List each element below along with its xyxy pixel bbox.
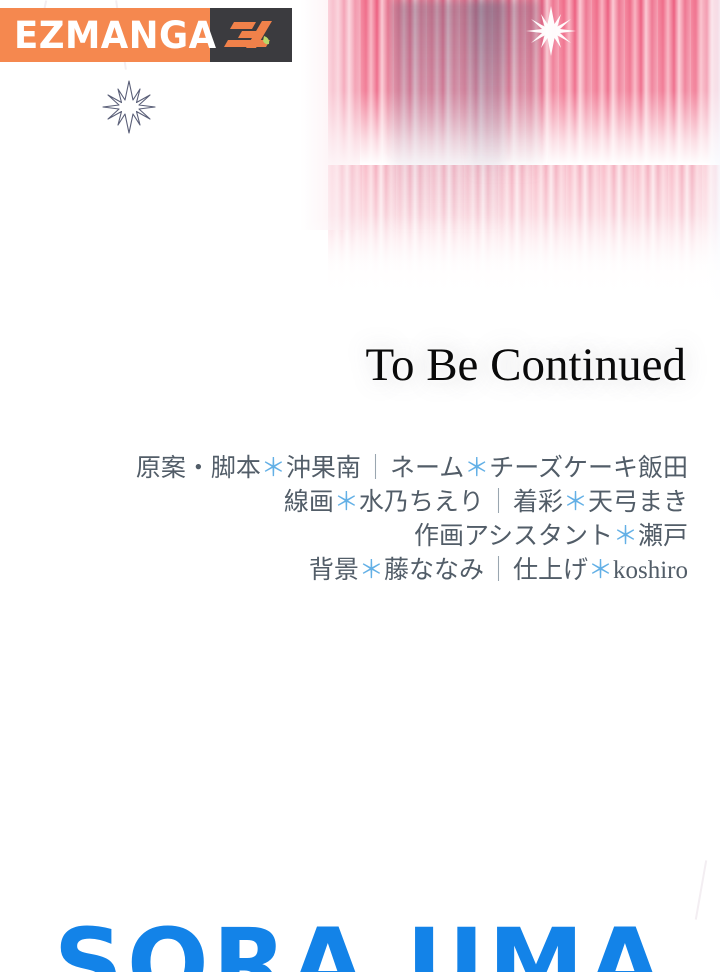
credit-star-icon: ＊ <box>464 455 489 482</box>
credit-name: 水乃ちえり <box>359 489 484 516</box>
sparkle-burst-left-icon <box>100 78 158 136</box>
credit-line: 線画＊水乃ちえり｜着彩＊天弓まき <box>0 486 688 520</box>
ezmanga-wordmark: EZMANGA <box>14 17 217 54</box>
pink-streak-field-deep <box>328 0 720 165</box>
credit-line: 作画アシスタント＊瀬戸 <box>0 520 688 554</box>
credit-star-icon: ＊ <box>588 557 613 584</box>
ezmanga-glyph-icon <box>222 18 280 52</box>
credit-separator: ｜ <box>484 489 513 516</box>
credit-line: 原案・脚本＊沖果南｜ネーム＊チーズケーキ飯田 <box>0 452 688 486</box>
credit-name: koshiro <box>613 557 688 584</box>
credit-role: 線画 <box>284 489 334 516</box>
ezmanga-dark-plate <box>210 8 292 62</box>
staff-credits: 原案・脚本＊沖果南｜ネーム＊チーズケーキ飯田線画＊水乃ちえり｜着彩＊天弓まき作画… <box>0 452 688 588</box>
credit-star-icon: ＊ <box>359 557 384 584</box>
credit-star-icon: ＊ <box>613 523 638 550</box>
to-be-continued-headline: To Be Continued <box>0 340 686 392</box>
bottom-fade <box>300 215 720 325</box>
ezmanga-orange-plate: EZMANGA <box>0 8 210 62</box>
manga-page: EZMANGA To Be Continued 原案・脚本＊沖果南｜ネーム＊チー… <box>0 0 720 972</box>
credit-role: 着彩 <box>513 489 563 516</box>
faint-line-c <box>695 860 707 919</box>
credit-name: 藤ななみ <box>384 557 484 584</box>
credit-star-icon: ＊ <box>334 489 359 516</box>
credit-name: 瀬戸 <box>638 523 688 550</box>
credit-separator: ｜ <box>361 455 390 482</box>
credit-star-icon: ＊ <box>261 455 286 482</box>
credit-role: 仕上げ <box>513 557 588 584</box>
credit-role: 背景 <box>309 557 359 584</box>
pink-streak-field <box>328 0 720 300</box>
ezmanga-watermark-banner: EZMANGA <box>0 8 292 62</box>
credit-name: 天弓まき <box>588 489 688 516</box>
credit-line: 背景＊藤ななみ｜仕上げ＊koshiro <box>0 554 688 588</box>
credit-role: 原案・脚本 <box>136 455 261 482</box>
shadow-drape <box>392 0 504 250</box>
credit-name: チーズケーキ飯田 <box>489 455 688 482</box>
left-edge-wash <box>300 0 360 230</box>
series-logotype: SORA UMA <box>0 916 720 972</box>
right-edge-wash <box>694 0 720 300</box>
credit-separator: ｜ <box>484 557 513 584</box>
credit-star-icon: ＊ <box>563 489 588 516</box>
credit-name: 沖果南 <box>286 455 361 482</box>
sparkle-burst-right-icon <box>524 4 578 58</box>
shadow-drape-secondary <box>470 0 540 190</box>
credit-role: 作画アシスタント <box>414 523 613 550</box>
credit-role: ネーム <box>390 455 464 482</box>
